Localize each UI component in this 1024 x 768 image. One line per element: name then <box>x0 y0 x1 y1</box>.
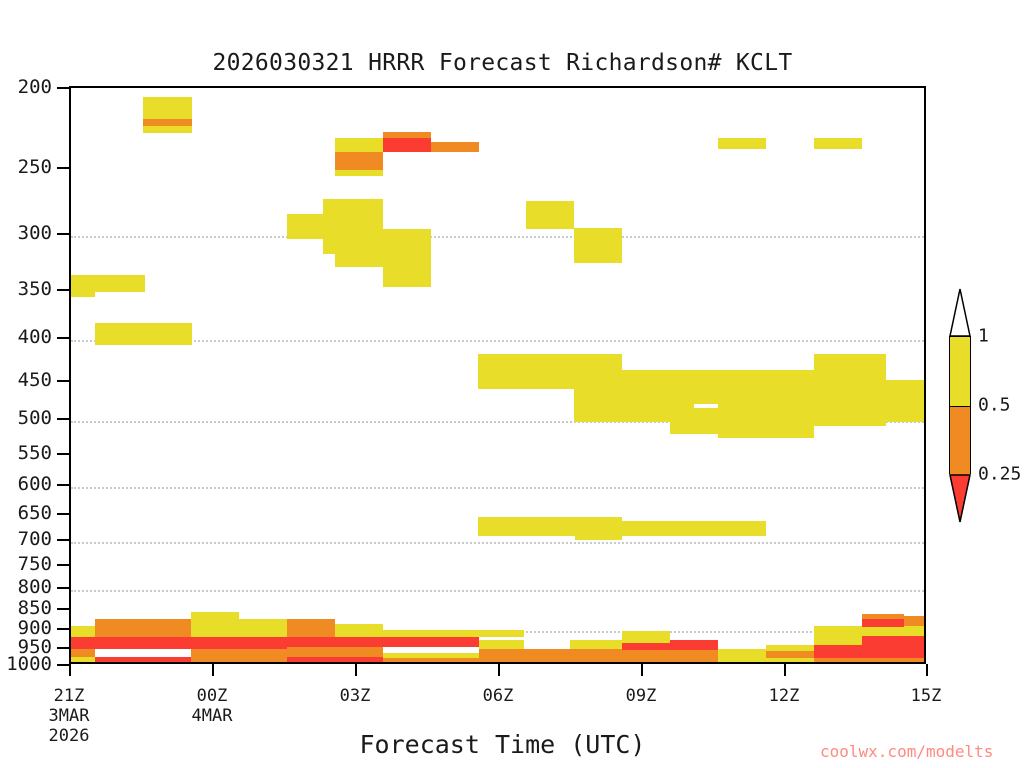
x-axis-tick <box>69 664 71 676</box>
y-axis-tick <box>57 167 69 169</box>
y-axis-label: 750 <box>18 553 52 575</box>
colorbar-band <box>950 406 970 475</box>
y-axis-label: 350 <box>18 278 52 300</box>
x-axis-tick <box>926 664 928 676</box>
y-axis-tick <box>57 608 69 610</box>
colorbar-tick-label: 0.5 <box>978 395 1011 416</box>
colorbar-bottom-arrow-icon <box>949 474 971 522</box>
y-axis-label: 600 <box>18 473 52 495</box>
x-axis-tick <box>641 664 643 676</box>
y-axis-label: 850 <box>18 597 52 619</box>
y-axis-label: 400 <box>18 326 52 348</box>
watermark: coolwx.com/modelts <box>820 742 993 761</box>
colorbar-divider <box>950 406 970 407</box>
y-axis-tick <box>57 628 69 630</box>
chart-root: 2026030321 HRRR Forecast Richardson# KCL… <box>0 0 1024 768</box>
y-axis-tick <box>57 664 69 666</box>
y-axis-tick <box>57 418 69 420</box>
y-axis-tick <box>57 513 69 515</box>
y-axis-tick <box>57 539 69 541</box>
y-axis: 2002503003504004505005506006507007508008… <box>0 0 1024 768</box>
colorbar: 10.50.25 <box>940 288 1024 488</box>
y-axis-label: 200 <box>18 76 52 98</box>
y-axis-tick <box>57 484 69 486</box>
y-axis-tick <box>57 380 69 382</box>
x-axis-label: 00Z4MAR <box>192 686 233 726</box>
x-axis-label: 06Z <box>483 686 514 706</box>
y-axis-tick <box>57 289 69 291</box>
y-axis-label: 300 <box>18 222 52 244</box>
y-axis-tick <box>57 587 69 589</box>
x-axis-tick <box>784 664 786 676</box>
y-axis-label: 1000 <box>6 653 52 675</box>
y-axis-tick <box>57 233 69 235</box>
y-axis-label: 450 <box>18 369 52 391</box>
x-axis-tick <box>498 664 500 676</box>
x-axis-label: 12Z <box>769 686 800 706</box>
y-axis-tick <box>57 453 69 455</box>
x-axis-label: 09Z <box>626 686 657 706</box>
colorbar-tick-label: 0.25 <box>978 464 1021 485</box>
x-axis-label: 03Z <box>340 686 371 706</box>
y-axis-label: 550 <box>18 442 52 464</box>
colorbar-top-arrow-icon <box>949 288 971 336</box>
y-axis-label: 500 <box>18 407 52 429</box>
y-axis-label: 800 <box>18 576 52 598</box>
colorbar-band <box>950 337 970 406</box>
colorbar-tick-label: 1 <box>978 326 989 347</box>
y-axis-tick <box>57 564 69 566</box>
y-axis-label: 250 <box>18 156 52 178</box>
y-axis-tick <box>57 337 69 339</box>
colorbar-bands <box>949 336 971 474</box>
y-axis-label: 700 <box>18 528 52 550</box>
y-axis-label: 650 <box>18 502 52 524</box>
x-axis-tick <box>212 664 214 676</box>
y-axis-tick <box>57 87 69 89</box>
x-axis-label: 15Z <box>911 686 942 706</box>
x-axis-tick <box>355 664 357 676</box>
y-axis-tick <box>57 647 69 649</box>
